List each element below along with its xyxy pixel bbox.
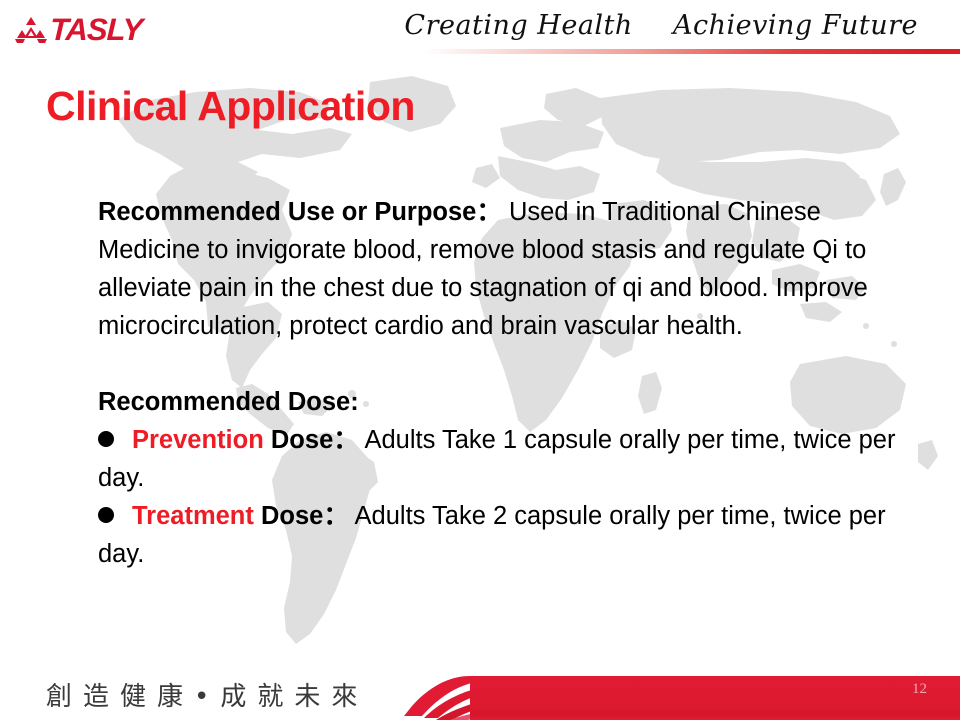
slide-body: Recommended Use or Purpose： Used in Trad… — [98, 193, 898, 573]
bullet-label: Dose — [261, 502, 323, 530]
purpose-label: Recommended Use or Purpose — [98, 198, 476, 226]
bullet-colon: ： — [333, 426, 359, 454]
dose-heading: Recommended Dose: — [98, 383, 898, 421]
tagline-right: Achieving Future — [673, 10, 918, 41]
slide-footer: 創造健康•成就未來 12 — [0, 658, 960, 720]
bullet-dot-icon — [98, 507, 114, 523]
page-number: 12 — [912, 680, 927, 698]
page-title: Clinical Application — [46, 82, 415, 130]
footer-red-band — [470, 676, 960, 720]
company-tagline: Creating Health Achieving Future — [404, 10, 918, 41]
list-item: Treatment Dose： Adults Take 2 capsule or… — [98, 497, 898, 573]
tasly-logo: TASLY — [14, 16, 142, 44]
tasly-triangle-logo-icon — [14, 16, 48, 44]
purpose-colon: ： — [476, 198, 502, 226]
paragraph-spacer — [98, 345, 898, 383]
purpose-paragraph: Recommended Use or Purpose： Used in Trad… — [98, 193, 898, 345]
slide: TASLY Creating Health Achieving Future C… — [0, 0, 960, 720]
tagline-left: Creating Health — [404, 10, 632, 41]
bullet-colon: ： — [323, 502, 349, 530]
bullet-label: Dose — [271, 426, 333, 454]
tasly-wordmark: TASLY — [50, 16, 143, 44]
slide-header: TASLY Creating Health Achieving Future — [0, 0, 960, 58]
bullet-emphasis: Treatment — [132, 502, 254, 530]
bullet-dot-icon — [98, 431, 114, 447]
header-divider-rule — [0, 49, 960, 54]
list-item: Prevention Dose： Adults Take 1 capsule o… — [98, 421, 898, 497]
bullet-emphasis: Prevention — [132, 426, 264, 454]
footer-chinese-slogan: 創造健康•成就未來 — [46, 680, 368, 714]
